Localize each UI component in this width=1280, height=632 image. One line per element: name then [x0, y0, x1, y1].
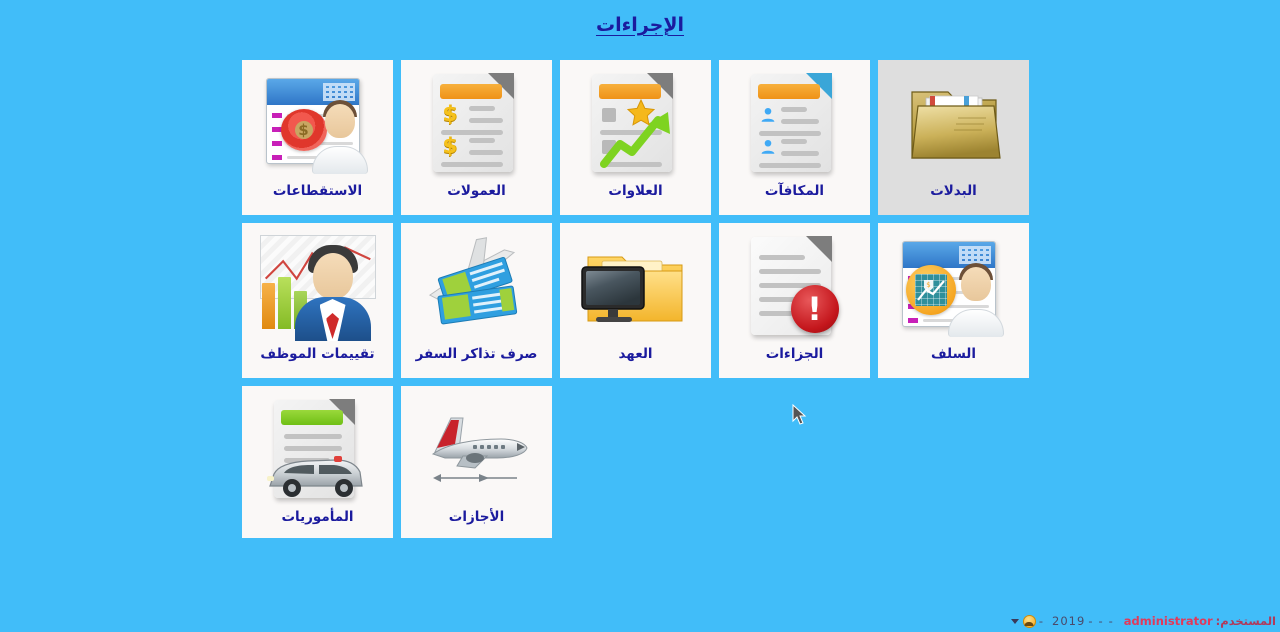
tile-allowances[interactable]: البدلات — [878, 60, 1029, 215]
person-icon — [759, 138, 777, 156]
tile-label: الاستقطاعات — [242, 184, 393, 199]
tile-custody[interactable]: العهد — [560, 223, 711, 378]
window-person-chart-icon: $ — [894, 233, 1014, 345]
svg-text:$: $ — [926, 281, 930, 289]
airplane-icon — [417, 396, 537, 508]
tile-label: المأموريات — [242, 510, 393, 525]
grid-row-2: تقييمات الموظف — [242, 223, 1038, 378]
tile-commissions[interactable]: $ $ العمولات — [401, 60, 552, 215]
star-icon — [626, 98, 656, 128]
businessman-icon — [294, 245, 372, 341]
status-user-name: administrator — [1124, 614, 1213, 628]
status-dash-2: - — [1098, 614, 1102, 628]
tile-penalties[interactable]: ! الجزاءات — [719, 223, 870, 378]
tile-label: صرف تذاكر السفر — [401, 347, 552, 362]
tile-travel-tickets[interactable]: صرف تذاكر السفر — [401, 223, 552, 378]
tile-label: العهد — [560, 347, 711, 362]
tile-vacations[interactable]: الأجازات — [401, 386, 552, 538]
status-dash-1: - — [1109, 614, 1113, 628]
status-dash-4: - — [1039, 614, 1043, 628]
tile-evaluations[interactable]: تقييمات الموظف — [242, 223, 393, 378]
window-person-target-icon — [258, 70, 378, 182]
tile-label: العلاوات — [560, 184, 711, 199]
car-icon — [264, 450, 368, 502]
document-warning-icon: ! — [735, 233, 855, 345]
document-people-icon — [735, 70, 855, 182]
tile-bonuses[interactable]: العلاوات — [560, 60, 711, 215]
tile-label: المكافآت — [719, 184, 870, 199]
tile-label: الأجازات — [401, 510, 552, 525]
folder-glyph — [904, 84, 1004, 166]
caret-down-icon[interactable] — [1011, 619, 1019, 624]
grid-row-1: الاستقطاعات $ $ العمولات — [242, 60, 1038, 215]
document-car-icon — [258, 396, 378, 508]
tile-rewards[interactable]: المكافآت — [719, 60, 870, 215]
folder-monitor-icon — [576, 233, 696, 345]
page-title: الإجراءات — [596, 14, 684, 36]
page-header: الإجراءات — [0, 0, 1280, 48]
person-icon — [759, 106, 777, 124]
chart-businessman-icon — [258, 233, 378, 345]
tile-deductions[interactable]: الاستقطاعات — [242, 60, 393, 215]
tile-assignments[interactable]: المأموريات — [242, 386, 393, 538]
status-year: 2019 — [1052, 614, 1085, 628]
status-dash-3: - — [1088, 614, 1092, 628]
monitor-icon — [580, 265, 648, 327]
tile-label: تقييمات الموظف — [242, 347, 393, 362]
document-star-growth-icon — [576, 70, 696, 182]
grid-row-3: المأموريات — [242, 386, 1038, 538]
warning-badge-icon: ! — [791, 285, 839, 333]
document-dollar-icon: $ $ — [417, 70, 537, 182]
tile-label: العمولات — [401, 184, 552, 199]
user-avatar-icon[interactable] — [1023, 615, 1036, 628]
status-user-label: المستخدم: — [1216, 614, 1276, 628]
tile-label: السلف — [878, 347, 1029, 362]
procedures-grid: الاستقطاعات $ $ العمولات — [242, 60, 1038, 538]
tile-advances[interactable]: $ السلف — [878, 223, 1029, 378]
gold-folder-icon — [894, 70, 1014, 182]
status-bar: المستخدم: administrator - - - 2019 - — [0, 610, 1280, 632]
tile-label: البدلات — [878, 184, 1029, 199]
airplane-tickets-icon — [417, 233, 537, 345]
tile-label: الجزاءات — [719, 347, 870, 362]
